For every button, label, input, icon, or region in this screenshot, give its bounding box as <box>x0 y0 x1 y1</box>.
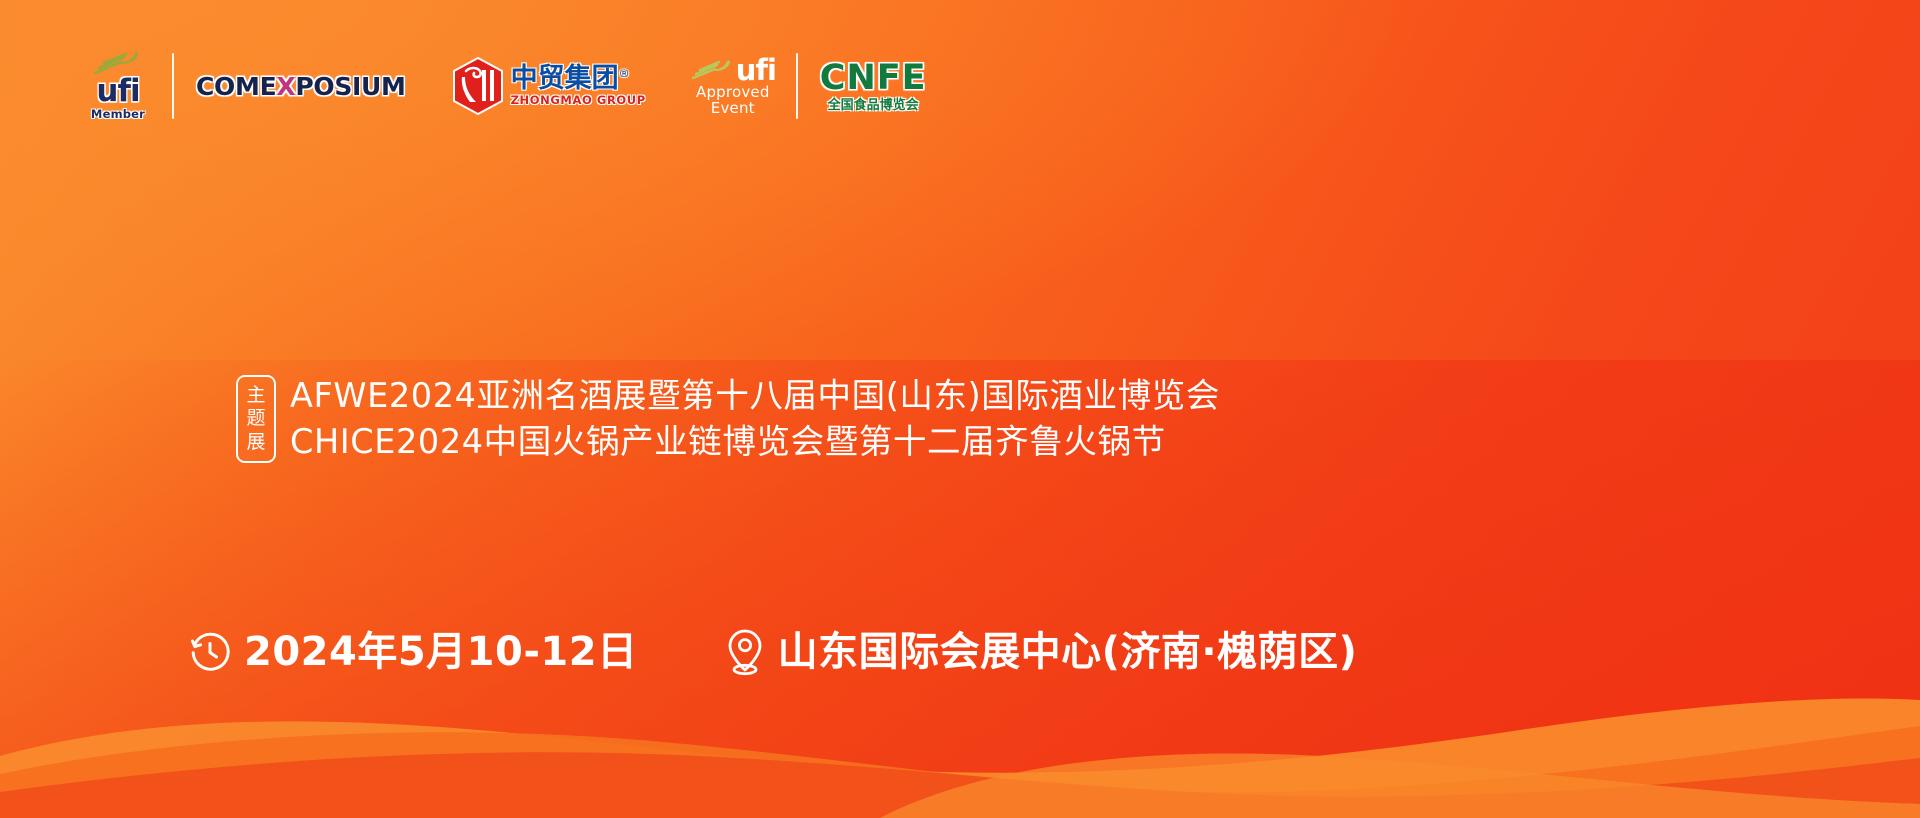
logo-divider-2 <box>796 53 798 119</box>
theme-tag-char-2: 题 <box>246 407 265 431</box>
theme-exhibitions: 主 题 展 AFWE2024亚洲名酒展暨第十八届中国(山东)国际酒业博览会 CH… <box>236 375 1220 463</box>
logo-comexposium[interactable]: COMEXPOSIUM <box>196 44 406 128</box>
logo-cnfe[interactable]: CNFE 全国食品博览会 <box>820 44 927 128</box>
wave-decoration-deep <box>0 722 1920 818</box>
logo-bar: ufi Member COMEXPOSIUM <box>86 44 927 128</box>
theme-tag-char-3: 展 <box>246 431 265 455</box>
logo-ufi-approved-event[interactable]: ufi Approved Event <box>692 44 774 128</box>
comexposium-accent-x: X <box>276 74 295 99</box>
logo-zhongmao-group[interactable]: 中贸集团® ZHONGMAO GROUP <box>452 44 646 128</box>
zhongmao-chinese-name: 中贸集团® <box>511 65 630 93</box>
logo-divider-1 <box>172 53 174 119</box>
event-date-text: 2024年5月10-12日 <box>244 632 638 672</box>
wave-decoration-mid <box>0 678 1920 818</box>
theme-line-chice: CHICE2024中国火锅产业链博览会暨第十二届齐鲁火锅节 <box>290 421 1220 463</box>
ufi-approved-line2: Event <box>711 101 755 117</box>
cnfe-chinese-name: 全国食品博览会 <box>828 99 919 112</box>
event-date: 2024年5月10-12日 <box>188 630 638 674</box>
event-venue-text: 山东国际会展中心(济南·槐荫区) <box>778 632 1358 672</box>
event-banner: ufi Member COMEXPOSIUM <box>0 0 1920 818</box>
zhongmao-mark-icon <box>452 57 504 115</box>
theme-line-afwe: AFWE2024亚洲名酒展暨第十八届中国(山东)国际酒业博览会 <box>290 375 1220 417</box>
theme-tag-badge: 主 题 展 <box>236 375 276 463</box>
zhongmao-english-name: ZHONGMAO GROUP <box>511 95 646 107</box>
event-details: 2024年5月10-12日 山东国际会展中心(济南·槐荫区) <box>188 628 1357 676</box>
comexposium-part2: POSIUM <box>295 74 405 99</box>
clock-icon <box>188 630 232 674</box>
cnfe-wordmark: CNFE <box>820 61 927 96</box>
theme-tag-char-1: 主 <box>246 384 265 408</box>
ufi-member-wordmark: ufi <box>96 76 139 107</box>
event-venue: 山东国际会展中心(济南·槐荫区) <box>724 628 1358 676</box>
ufi-approved-wordmark: ufi <box>736 56 776 85</box>
logo-ufi-member[interactable]: ufi Member <box>86 44 150 128</box>
comexposium-part1: COME <box>196 74 276 99</box>
ufi-member-sublabel: Member <box>91 109 145 121</box>
location-pin-icon <box>724 628 766 676</box>
ufi-approved-wing-icon <box>690 60 734 82</box>
